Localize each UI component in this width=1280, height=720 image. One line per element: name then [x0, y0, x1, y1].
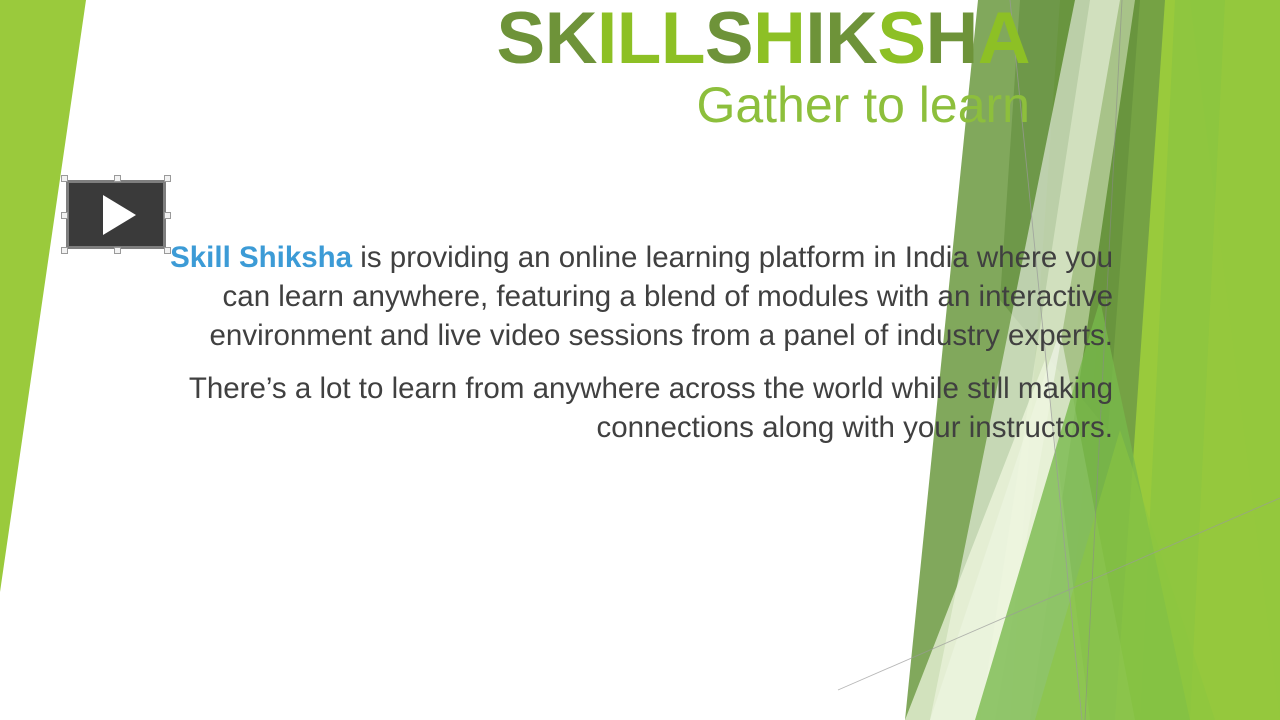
brand-title-part-6: K	[825, 0, 877, 79]
paragraph-1: Skill Shiksha is providing an online lea…	[168, 238, 1113, 355]
video-placeholder[interactable]	[66, 180, 166, 249]
resize-handle-middle-left[interactable]	[61, 212, 68, 219]
brand-title-part-3: S	[705, 0, 753, 79]
body-text-block: Skill Shiksha is providing an online lea…	[168, 238, 1113, 447]
brand-title-part-8: H	[926, 0, 978, 79]
brand-tagline: Gather to learn	[180, 76, 1030, 132]
resize-handle-bottom-left[interactable]	[61, 247, 68, 254]
play-icon[interactable]	[103, 195, 136, 235]
brand-title-part-9: A	[978, 0, 1030, 79]
video-frame[interactable]	[66, 180, 166, 249]
resize-handle-middle-right[interactable]	[164, 212, 171, 219]
brand-title-part-7: S	[877, 0, 925, 79]
resize-handle-top-center[interactable]	[114, 175, 121, 182]
resize-handle-top-left[interactable]	[61, 175, 68, 182]
paragraph-2-text: There’s a lot to learn from anywhere acr…	[189, 372, 1113, 444]
brand-title-part-2: ILL	[597, 0, 705, 79]
resize-handle-bottom-center[interactable]	[114, 247, 121, 254]
resize-handle-top-right[interactable]	[164, 175, 171, 182]
brand-title-part-1: SK	[497, 0, 597, 79]
brand-mention: Skill Shiksha	[170, 241, 352, 274]
brand-title-part-5: I	[805, 0, 825, 79]
presentation-slide: SKILLSHIKSHA Gather to learn Skill Shiks…	[0, 0, 1280, 720]
brand-title: SKILLSHIKSHA	[180, 2, 1030, 76]
left-green-wedge	[0, 0, 86, 592]
brand-title-part-4: H	[753, 0, 805, 79]
paragraph-2: There’s a lot to learn from anywhere acr…	[168, 369, 1113, 447]
title-block: SKILLSHIKSHA Gather to learn	[180, 2, 1030, 132]
